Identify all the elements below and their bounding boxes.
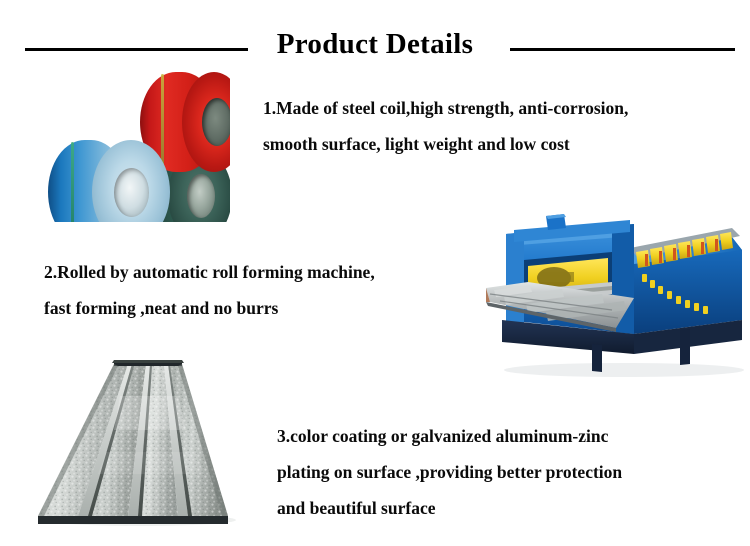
roll-forming-machine-photo [484, 202, 750, 378]
header-rule-right [510, 48, 735, 51]
sheet-body [38, 360, 228, 524]
feature-text-1: 1.Made of steel coil,high strength, anti… [263, 90, 733, 162]
coil-blue-strap [71, 142, 74, 222]
coil-blue-bore [114, 168, 149, 217]
feature-text-3: 3.color coating or galvanized aluminum-z… [277, 418, 737, 526]
prepainted-steel-coils-photo [40, 62, 230, 222]
steel-coil-blue [48, 140, 170, 222]
roll-forming-machine-svg [484, 202, 750, 378]
page-title: Product Details [0, 27, 750, 61]
galvanized-corrugated-sheet-photo [36, 356, 246, 528]
coil-green-bore [187, 174, 215, 218]
page-header: Product Details [0, 14, 750, 58]
corrugated-sheet-svg [36, 356, 246, 528]
feature-text-2: 2.Rolled by automatic roll forming machi… [44, 254, 474, 326]
coil-red-bore [202, 98, 230, 146]
